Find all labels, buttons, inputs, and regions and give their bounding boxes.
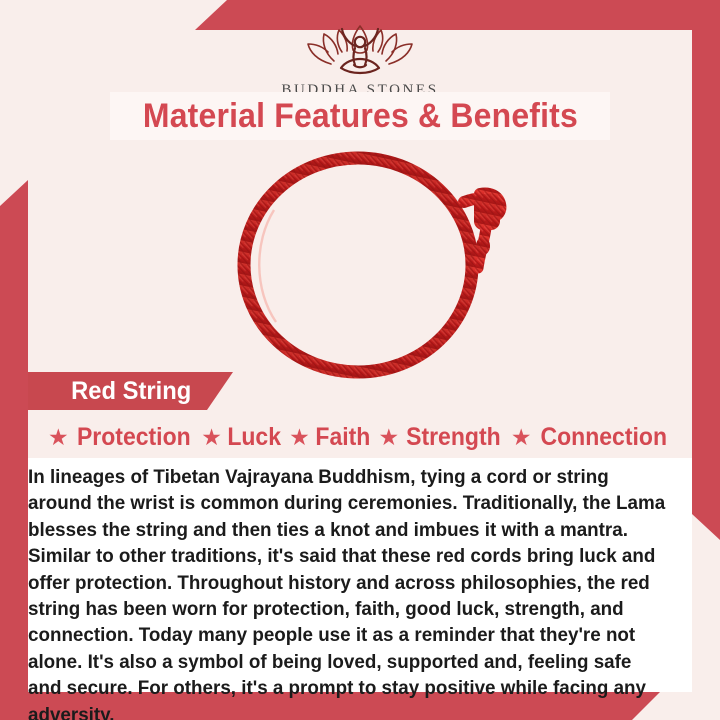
- product-name-label: Red String: [71, 377, 191, 406]
- star-icon: ★: [48, 426, 69, 449]
- feature-label: Luck: [227, 423, 281, 452]
- feature-item-protection: ★ Protection: [48, 423, 195, 452]
- feature-item-strength: ★ Strength: [379, 423, 505, 452]
- feature-list: ★ Protection ★ Luck ★ Faith ★ Strength ★…: [28, 418, 692, 456]
- lotus-meditation-figure-icon: [301, 18, 419, 80]
- star-icon: ★: [289, 426, 310, 449]
- feature-label: Connection: [540, 423, 667, 452]
- red-string-bracelet-illustration: [28, 150, 692, 380]
- star-icon: ★: [379, 426, 400, 449]
- feature-item-luck: ★ Luck: [201, 423, 283, 452]
- star-icon: ★: [511, 426, 532, 449]
- description-text: In lineages of Tibetan Vajrayana Buddhis…: [28, 458, 672, 720]
- feature-label: Faith: [315, 423, 370, 452]
- page-title: Material Features & Benefits: [142, 97, 577, 136]
- feature-item-faith: ★ Faith: [289, 423, 372, 452]
- star-icon: ★: [201, 426, 222, 449]
- brand-logo: BUDDHA STONES: [0, 18, 720, 99]
- product-name-banner: Red String: [28, 372, 233, 410]
- title-banner: Material Features & Benefits: [110, 92, 610, 140]
- feature-label: Strength: [406, 423, 501, 452]
- product-image: [28, 150, 692, 380]
- feature-label: Protection: [77, 423, 191, 452]
- description-panel: In lineages of Tibetan Vajrayana Buddhis…: [28, 458, 692, 692]
- frame-bar-left: [0, 180, 28, 720]
- infographic-page: BUDDHA STONES Material Features & Benefi…: [0, 0, 720, 720]
- feature-item-connection: ★ Connection: [511, 423, 672, 452]
